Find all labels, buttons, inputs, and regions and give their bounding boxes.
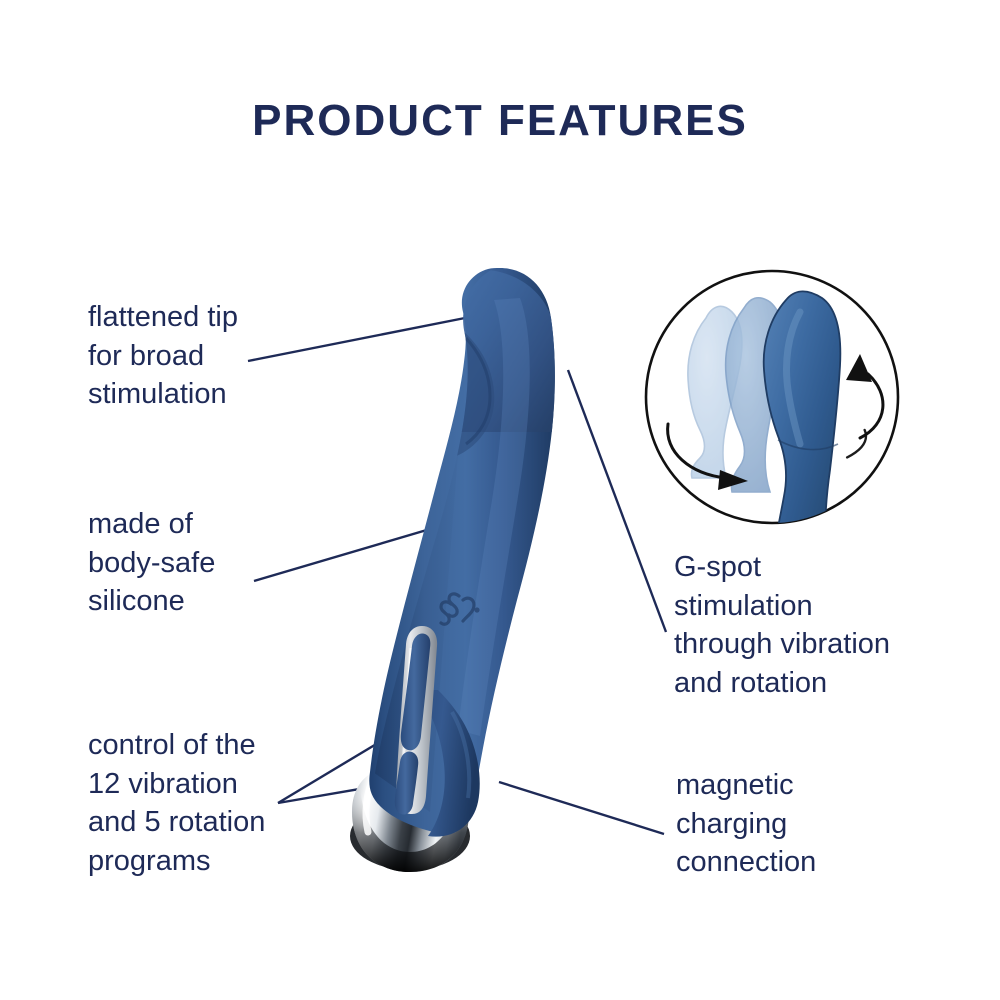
product-features-page: PRODUCT FEATURES: [0, 0, 1000, 1000]
callout-g-spot-stimulation: G-spot stimulation through vibration and…: [674, 548, 934, 702]
rotation-inset-diagram: [646, 271, 898, 552]
callout-magnetic-charging: magnetic charging connection: [676, 766, 916, 882]
rotation-arrowhead-back: [846, 354, 872, 382]
leader-line-gspot: [568, 370, 666, 632]
control-channel: [396, 626, 437, 814]
button-upper[interactable]: [401, 634, 431, 751]
silicone-shaft: [369, 268, 555, 833]
page-title: PRODUCT FEATURES: [0, 96, 1000, 146]
rotation-arrow-back: [860, 374, 883, 438]
callout-control-programs: control of the 12 vibration and 5 rotati…: [88, 726, 358, 880]
rotation-arrows: [668, 374, 883, 478]
tip-solid: [764, 291, 841, 552]
rotation-arrow-front: [668, 424, 726, 478]
callout-body-safe-silicone: made of body-safe silicone: [88, 505, 338, 621]
tip-ghost-1: [688, 306, 742, 478]
leader-line-magnetic: [499, 782, 664, 834]
silicone-skirt: [414, 690, 480, 837]
rotation-arrowhead-front: [718, 470, 748, 490]
button-lower[interactable]: [395, 751, 419, 814]
product-body: [350, 268, 557, 872]
inset-circle: [646, 271, 898, 523]
chrome-base: [350, 770, 470, 872]
control-buttons: [395, 634, 431, 815]
callout-flattened-tip: flattened tip for broad stimulation: [88, 298, 338, 414]
tip-ghost-2: [726, 298, 784, 492]
satisfyer-logo-icon: [441, 594, 480, 624]
